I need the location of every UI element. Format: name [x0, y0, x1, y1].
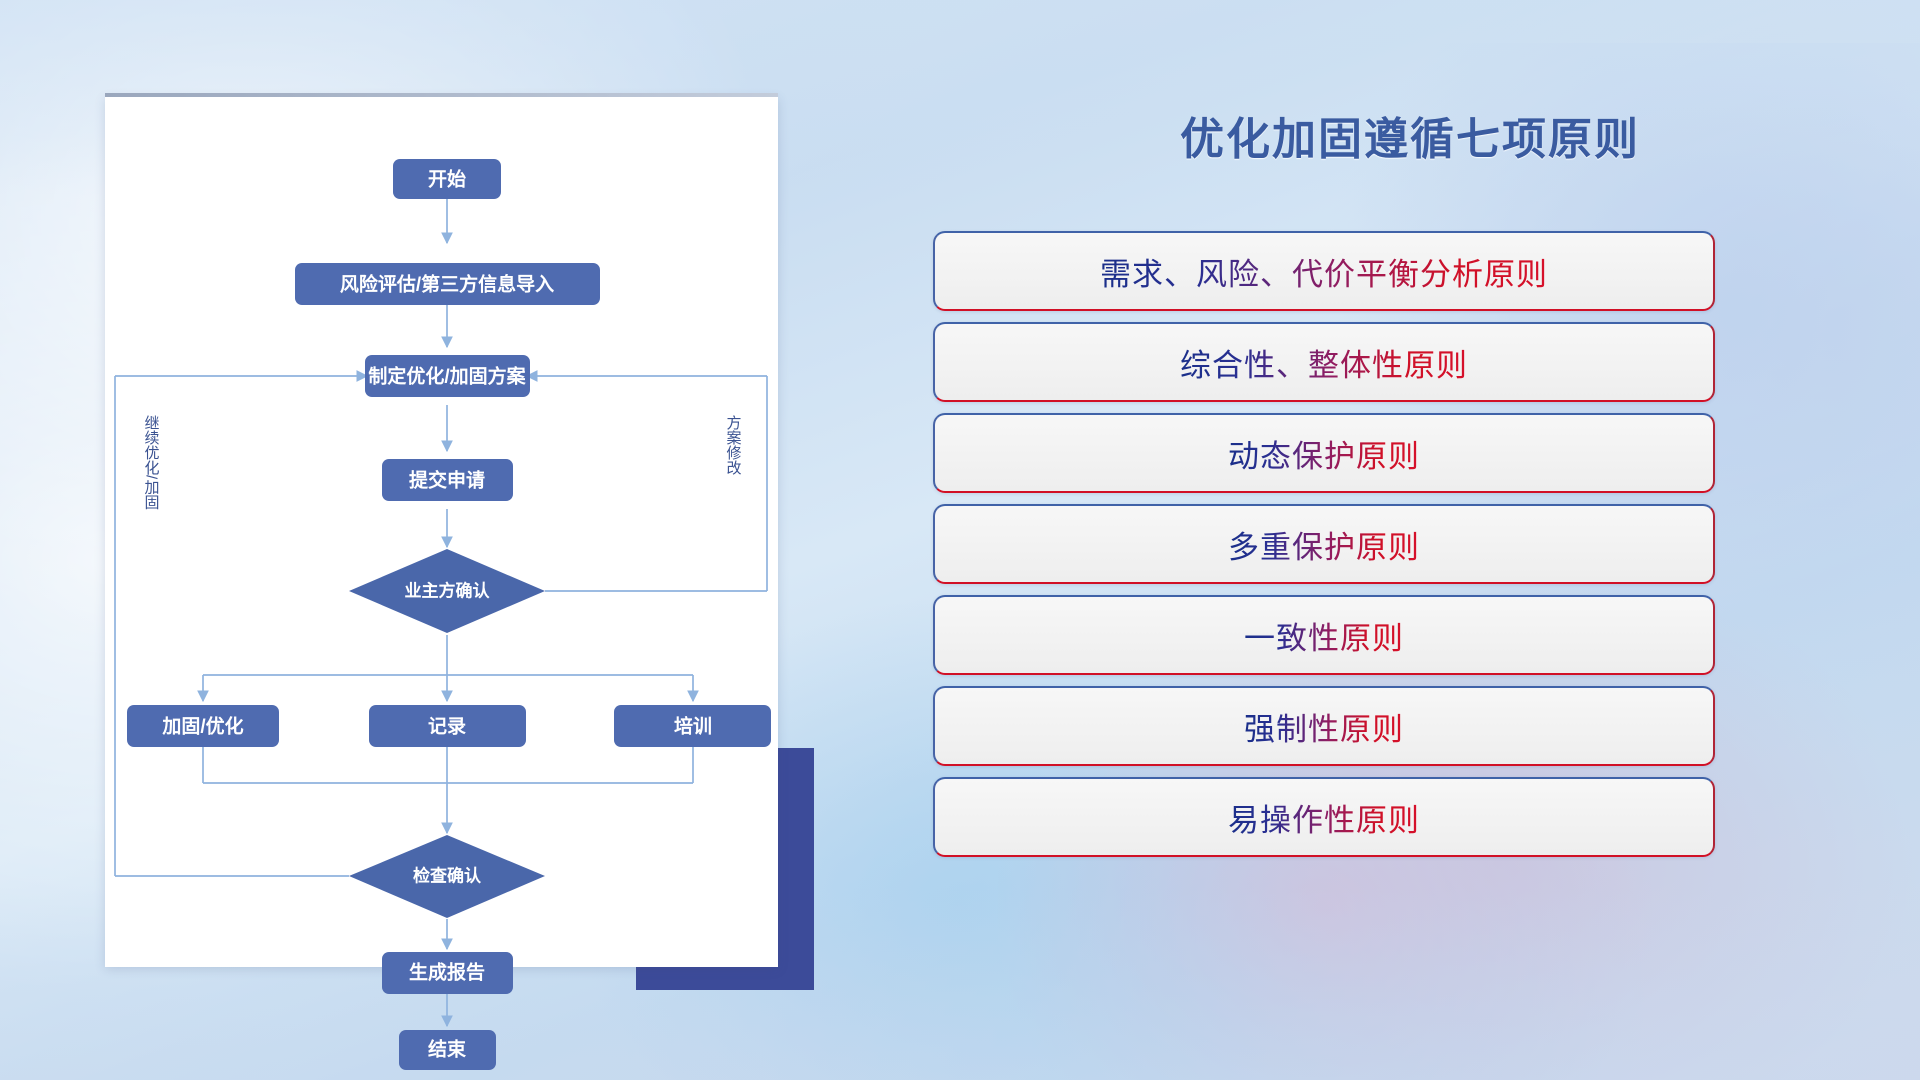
principle-item-1[interactable]: 需求、风险、代价平衡分析原则 — [933, 231, 1715, 311]
flow-node-start[interactable]: 开始 — [393, 159, 501, 199]
flow-node-end-label: 结束 — [428, 1038, 467, 1061]
principle-item-4-label: 多重保护原则 — [1228, 522, 1420, 567]
flow-node-reinforce[interactable]: 加固/优化 — [127, 705, 279, 747]
principle-item-4[interactable]: 多重保护原则 — [933, 504, 1715, 584]
principles-title: 优化加固遵循七项原则 — [900, 103, 1920, 167]
principle-item-5-label: 一致性原则 — [1244, 613, 1404, 658]
flow-node-end[interactable]: 结束 — [399, 1030, 496, 1070]
flow-node-risk-assessment-label: 风险评估/第三方信息导入 — [340, 273, 554, 296]
flow-node-check-confirm-label: 检查确认 — [413, 866, 482, 886]
flow-node-record[interactable]: 记录 — [369, 705, 526, 747]
edge-label-left-loop-text: 继续优化/加固 — [143, 415, 160, 509]
principle-item-3[interactable]: 动态保护原则 — [933, 413, 1715, 493]
principles-list: 需求、风险、代价平衡分析原则 综合性、整体性原则 动态保护原则 多重保护原则 一… — [900, 231, 1920, 868]
principle-item-6-label: 强制性原则 — [1244, 704, 1404, 749]
flow-node-training-label: 培训 — [674, 715, 712, 738]
principle-item-2[interactable]: 综合性、整体性原则 — [933, 322, 1715, 402]
principle-item-7[interactable]: 易操作性原则 — [933, 777, 1715, 857]
principles-panel: 优化加固遵循七项原则 需求、风险、代价平衡分析原则 综合性、整体性原则 动态保护… — [900, 0, 1920, 1080]
flow-node-submit-label: 提交申请 — [409, 469, 485, 492]
principle-item-5[interactable]: 一致性原则 — [933, 595, 1715, 675]
principle-item-2-label: 综合性、整体性原则 — [1180, 340, 1468, 385]
principle-item-1-label: 需求、风险、代价平衡分析原则 — [1100, 249, 1548, 294]
edge-label-right-loop-text: 方案修改 — [725, 415, 742, 475]
flow-node-owner-confirm-label: 业主方确认 — [405, 581, 491, 601]
flow-node-plan-label: 制定优化/加固方案 — [368, 365, 526, 388]
flowchart-diagram: 继续优化/加固 方案修改 开始 风险评估/第三方信息导入 制定优化/加固方案 — [105, 97, 778, 967]
principle-item-7-label: 易操作性原则 — [1228, 795, 1420, 840]
flowchart-card: 继续优化/加固 方案修改 开始 风险评估/第三方信息导入 制定优化/加固方案 — [105, 97, 778, 967]
flow-node-check-confirm[interactable]: 检查确认 — [349, 835, 545, 918]
principle-item-6[interactable]: 强制性原则 — [933, 686, 1715, 766]
principle-item-3-label: 动态保护原则 — [1228, 431, 1420, 476]
edge-label-right-loop: 方案修改 — [725, 415, 742, 475]
flow-node-plan[interactable]: 制定优化/加固方案 — [365, 355, 530, 397]
flow-node-submit[interactable]: 提交申请 — [382, 459, 513, 501]
flow-node-reinforce-label: 加固/优化 — [161, 715, 243, 738]
flow-node-training[interactable]: 培训 — [614, 705, 771, 747]
flow-node-record-label: 记录 — [428, 716, 466, 738]
flow-node-start-label: 开始 — [428, 168, 466, 191]
flow-node-risk-assessment[interactable]: 风险评估/第三方信息导入 — [295, 263, 600, 305]
edge-label-left-loop: 继续优化/加固 — [143, 415, 160, 509]
flow-node-owner-confirm[interactable]: 业主方确认 — [349, 549, 545, 633]
flowchart-panel: 继续优化/加固 方案修改 开始 风险评估/第三方信息导入 制定优化/加固方案 — [0, 0, 860, 1080]
